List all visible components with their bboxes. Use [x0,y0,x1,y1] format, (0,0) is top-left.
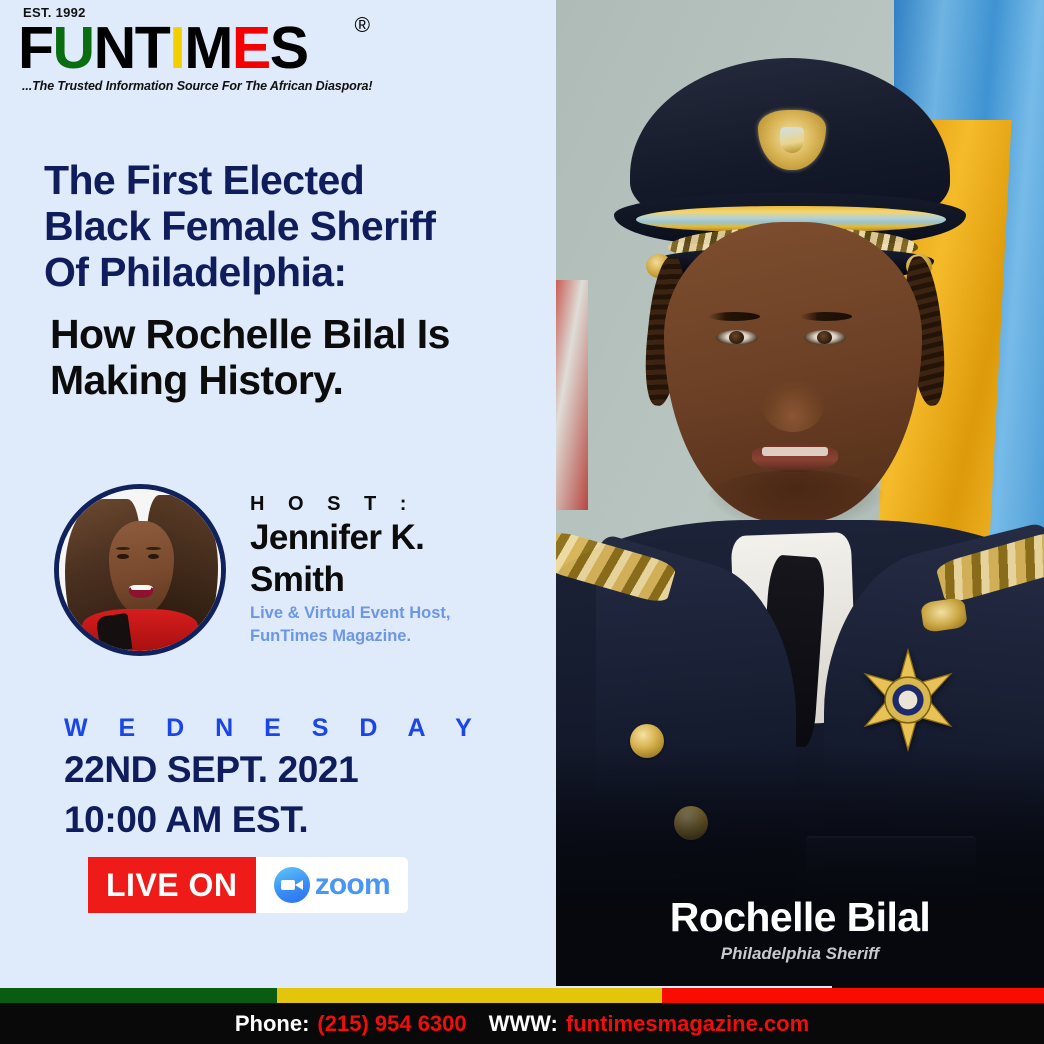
page-title: The First Elected Black Female Sheriff O… [44,158,544,404]
headline-line-4: How Rochelle Bilal Is [50,312,544,358]
host-name-line-1: Jennifer K. [250,520,550,556]
video-camera-icon [281,880,295,890]
host-role-line-1: Live & Virtual Event Host, [250,604,550,622]
logo-tagline: ...The Trusted Information Source For Th… [22,79,348,93]
headline-line-2: Black Female Sheriff [44,204,544,250]
subject-brow-right [800,312,852,321]
flag-usa-partial [556,280,588,510]
headline-line-1: The First Elected [44,158,544,204]
subject-eye-right [804,330,846,345]
host-details: H O S T : Jennifer K. Smith Live & Virtu… [250,494,550,646]
stripe-yellow [277,988,662,1003]
footer-website-link[interactable]: funtimesmagazine.com [566,1013,809,1035]
headline-line-5: Making History. [50,358,544,404]
event-weekday: W E D N E S D A Y [64,716,484,741]
funtimes-logo: EST. 1992 FUNTIMES ® ...The Trusted Info… [18,6,348,93]
tricolor-stripe [0,988,1044,1003]
footer-phone-number[interactable]: (215) 954 6300 [317,1013,466,1035]
stripe-red [662,988,1044,1003]
sheriff-star-badge-icon [856,648,960,752]
zoom-platform-panel[interactable]: zoom [256,857,408,913]
photo-caption: Rochelle Bilal Philadelphia Sheriff [556,896,1044,964]
logo-letter-i: I [169,15,184,81]
logo-letter-s: S [270,15,308,81]
subject-name: Rochelle Bilal [556,896,1044,939]
footer-www-label: WWW: [489,1013,558,1035]
host-section: H O S T : Jennifer K. Smith Live & Virtu… [54,484,554,669]
subject-brow-left [708,312,760,321]
zoom-logo-icon [274,867,310,903]
stripe-green [0,988,277,1003]
host-brow-left [116,547,131,551]
live-on-label: LIVE ON [88,857,256,913]
event-time: 10:00 AM EST. [64,800,484,841]
live-on-zoom-badge[interactable]: LIVE ON zoom [88,857,408,913]
logo-letter-u: U [53,15,94,81]
logo-letter-e: E [232,15,270,81]
host-role-line-2: FunTimes Magazine. [250,627,550,645]
registered-trademark-icon: ® [355,16,370,36]
left-content-panel: EST. 1992 FUNTIMES ® ...The Trusted Info… [0,0,556,986]
subject-photo-panel: Rochelle Bilal Philadelphia Sheriff [556,0,1044,986]
host-name-line-2: Smith [250,562,550,598]
event-promo-poster: EST. 1992 FUNTIMES ® ...The Trusted Info… [0,0,1044,1044]
subject-nose [762,380,824,432]
host-teeth [131,586,150,590]
logo-letters-nt: NT [94,15,170,81]
footer-contact-bar: Phone: (215) 954 6300 WWW: funtimesmagaz… [0,1003,1044,1044]
subject-title: Philadelphia Sheriff [556,944,1044,964]
subject-mouth [752,444,838,472]
logo-letter-f: F [18,15,53,81]
logo-wordmark: FUNTIMES ® [18,20,348,76]
headline-line-3: Of Philadelphia: [44,250,544,296]
zoom-wordmark: zoom [315,870,390,900]
avatar [54,484,226,656]
video-camera-lens-icon [295,880,303,890]
host-eye-left [117,554,128,560]
host-brow-right [146,547,161,551]
host-photo [59,489,221,651]
event-datetime: W E D N E S D A Y 22ND SEPT. 2021 10:00 … [64,716,484,840]
footer-phone-label: Phone: [235,1013,310,1035]
event-date: 22ND SEPT. 2021 [64,750,484,791]
logo-letter-m: M [184,15,232,81]
headline-subtitle-group: How Rochelle Bilal Is Making History. [50,312,544,404]
host-black-collar [96,613,133,651]
subject-eye-left [716,330,758,345]
host-label: H O S T : [250,494,550,514]
